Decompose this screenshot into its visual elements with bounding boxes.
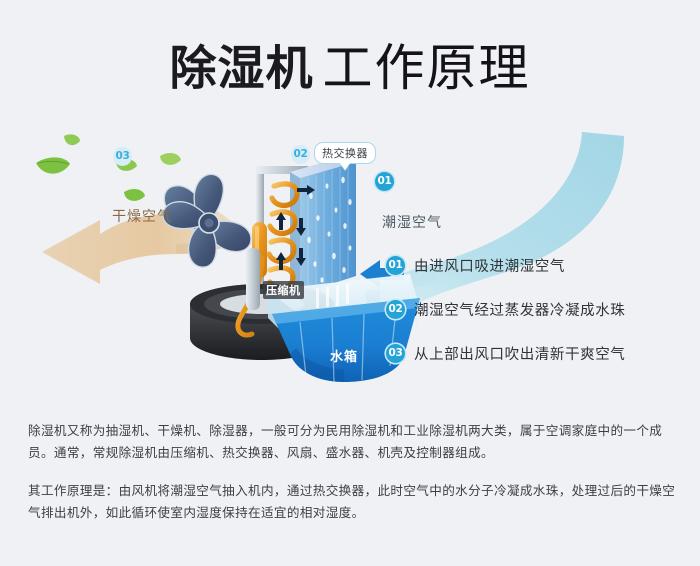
label-compressor: 压缩机	[263, 281, 304, 299]
label-dry-air: 干燥空气	[112, 206, 172, 226]
legend-badge-01: 01	[386, 256, 405, 275]
legend-item: 01 由进风口吸进潮湿空气	[386, 254, 686, 276]
badge-heat-exchanger: 02	[291, 145, 310, 164]
badge-dry-air: 03	[113, 147, 132, 166]
description-paragraph-2: 其工作原理是：由风机将潮湿空气抽入机内，通过热交换器，此时空气中的水分子冷凝成水…	[28, 480, 676, 524]
page-title: 除湿机工作原理	[0, 28, 700, 100]
badge-humid-air: 01	[375, 172, 394, 191]
legend-text-02: 潮湿空气经过蒸发器冷凝成水珠	[414, 299, 625, 320]
legend-item: 02 潮湿空气经过蒸发器冷凝成水珠	[386, 298, 686, 320]
legend-badge-02: 02	[386, 300, 405, 319]
legend-badge-03: 03	[386, 344, 405, 363]
label-water-tank: 水箱	[330, 346, 358, 365]
leaf-icon-group	[36, 134, 181, 201]
page-title-primary: 除湿机	[170, 42, 314, 97]
description-block: 除湿机又称为抽湿机、干燥机、除湿器，一般可分为民用除湿机和工业除湿机两大类，属于…	[28, 420, 676, 540]
callout-heat-exchanger: 热交换器	[314, 142, 376, 164]
page-title-secondary: 工作原理	[323, 39, 531, 97]
legend-item: 03 从上部出风口吹出清新干爽空气	[386, 342, 686, 364]
legend-text-01: 由进风口吸进潮湿空气	[414, 255, 565, 276]
label-humid-air: 潮湿空气	[382, 212, 442, 232]
description-paragraph-1: 除湿机又称为抽湿机、干燥机、除湿器，一般可分为民用除湿机和工业除湿机两大类，属于…	[28, 420, 676, 464]
process-legend: 01 由进风口吸进潮湿空气 02 潮湿空气经过蒸发器冷凝成水珠 03 从上部出风…	[386, 254, 686, 386]
legend-text-03: 从上部出风口吹出清新干爽空气	[414, 343, 625, 364]
